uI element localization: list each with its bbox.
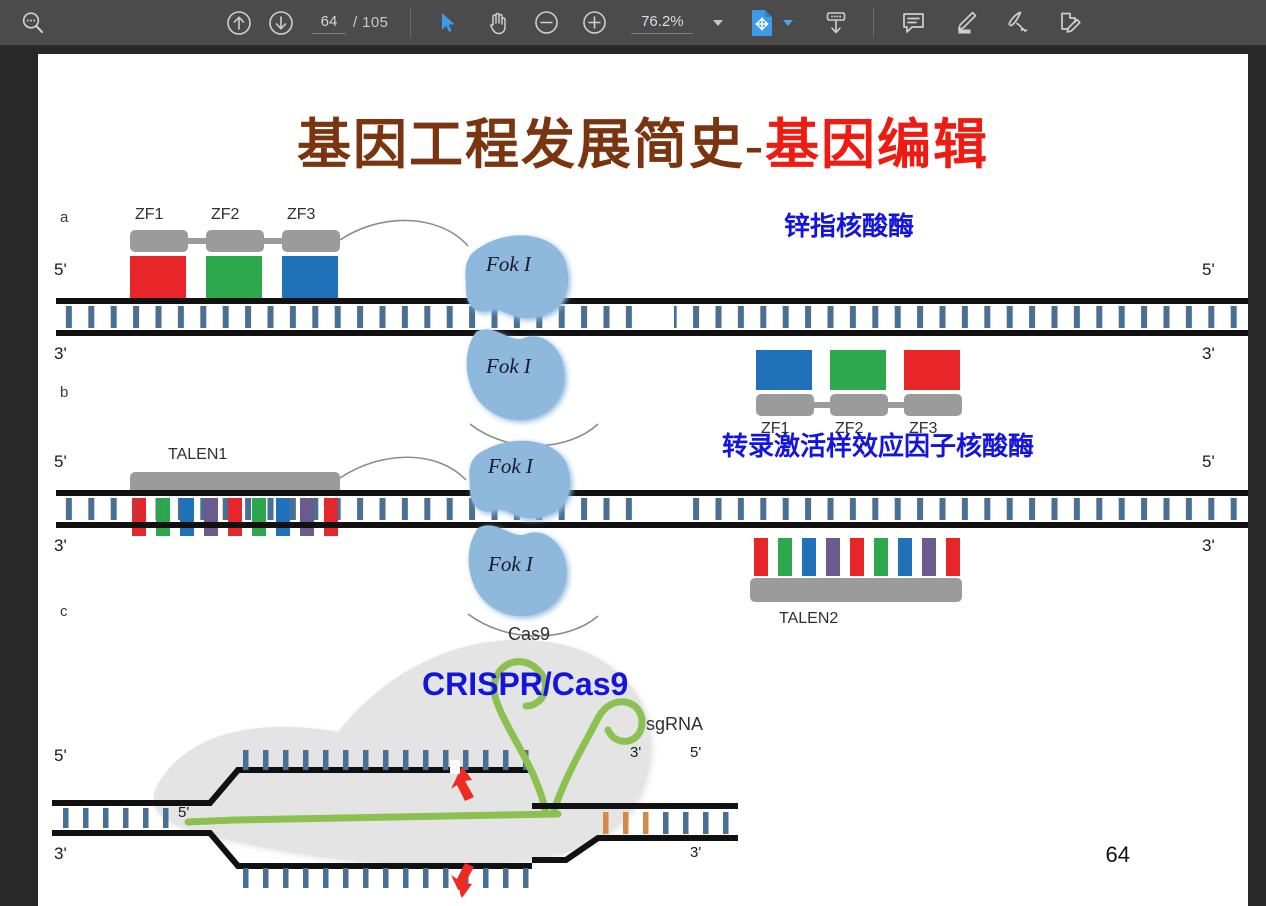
previous-page-icon[interactable]	[222, 6, 256, 40]
panel-c-right-5prime: 5'	[690, 744, 701, 761]
select-tool-icon[interactable]	[431, 6, 465, 40]
panel-b-foki-lower-label: Fok I	[488, 552, 533, 577]
panel-a-foki-lower-label: Fok I	[486, 354, 531, 379]
download-icon[interactable]	[819, 6, 853, 40]
zoom-dropdown-caret[interactable]	[713, 20, 723, 26]
panel-a-zf-top-colors	[130, 256, 338, 298]
panel-b-foki-upper-label: Fok I	[488, 454, 533, 479]
panel-a-right-5prime: 5'	[1202, 260, 1215, 280]
page-total-label: / 105	[353, 14, 388, 31]
panel-a-zf-bottom-domains	[756, 394, 962, 416]
slide-page-number: 64	[1106, 842, 1130, 868]
panel-c-right-3prime: 3'	[690, 844, 701, 861]
panel-b-left-3prime: 3'	[54, 536, 67, 556]
zoom-out-icon[interactable]	[529, 6, 563, 40]
panel-letter-a: a	[60, 209, 68, 226]
fit-page-icon[interactable]	[745, 6, 779, 40]
edit-document-icon[interactable]	[1052, 6, 1086, 40]
zoom-control[interactable]: 76.2%	[631, 12, 723, 34]
search-icon[interactable]	[16, 6, 50, 40]
signature-icon[interactable]	[1000, 6, 1034, 40]
sgrna-label: sgRNA	[646, 714, 703, 735]
panel-c-left-3prime: 3'	[54, 844, 67, 864]
panel-b-right-3prime: 3'	[1202, 536, 1215, 556]
panel-b-talen2-repeats	[754, 538, 960, 576]
figure-svg	[38, 54, 1248, 906]
panel-a-dna	[56, 298, 1248, 336]
highlighter-icon[interactable]	[948, 6, 982, 40]
talen2-label: TALEN2	[779, 610, 838, 628]
panel-b-right-5prime: 5'	[1202, 452, 1215, 472]
panel-a-callout: 锌指核酸酶	[784, 206, 914, 243]
page-number-input[interactable]	[312, 12, 346, 34]
panel-c-callout: CRISPR/Cas9	[422, 666, 628, 703]
document-viewport[interactable]: 基因工程发展简史-基因编辑	[0, 46, 1266, 906]
panel-c-left-5prime: 5'	[54, 746, 67, 766]
zoom-level-value[interactable]: 76.2%	[631, 12, 693, 34]
zf3-top-label: ZF3	[287, 206, 315, 224]
toolbar-divider-2	[873, 8, 874, 38]
panel-letter-c: c	[60, 603, 68, 620]
pdf-reader-window: / 105	[0, 0, 1266, 906]
panel-a-left-3prime: 3'	[54, 344, 67, 364]
panel-c-bubble-5prime: 5'	[178, 804, 189, 821]
panel-c-left-dna	[52, 800, 176, 836]
next-page-icon[interactable]	[264, 6, 298, 40]
panel-b-talen2-bar	[750, 578, 962, 602]
panel-a-left-5prime: 5'	[54, 260, 67, 280]
panel-a-right-3prime: 3'	[1202, 344, 1215, 364]
zoom-in-icon[interactable]	[577, 6, 611, 40]
panel-a-zf-bottom-colors	[756, 350, 960, 390]
zf1-top-label: ZF1	[135, 206, 163, 224]
page-navigator[interactable]: / 105	[312, 12, 388, 34]
panel-b-foki-upper	[469, 441, 570, 518]
gene-editing-figure: a b c ZF1 ZF2 ZF3 ZF1 ZF2 ZF3 5' 3' 5' 3…	[38, 54, 1248, 906]
zf2-top-label: ZF2	[211, 206, 239, 224]
panel-b-left-5prime: 5'	[54, 452, 67, 472]
panel-b-callout: 转录激活样效应因子核酸酶	[722, 426, 1034, 463]
fit-page-dropdown-caret[interactable]	[783, 20, 793, 26]
pdf-page: 基因工程发展简史-基因编辑	[38, 54, 1248, 906]
panel-a-foki-upper-label: Fok I	[486, 252, 531, 277]
toolbar-divider	[410, 8, 411, 38]
cas9-label: Cas9	[508, 624, 550, 645]
panel-a-zf-top-domains	[130, 230, 340, 252]
panel-c-sgrna-3prime: 3'	[630, 744, 641, 761]
toolbar: / 105	[0, 0, 1266, 46]
panel-letter-b: b	[60, 384, 68, 401]
talen1-label: TALEN1	[168, 446, 227, 464]
comment-icon[interactable]	[896, 6, 930, 40]
hand-tool-icon[interactable]	[481, 6, 515, 40]
panel-b-dna	[56, 490, 1248, 528]
